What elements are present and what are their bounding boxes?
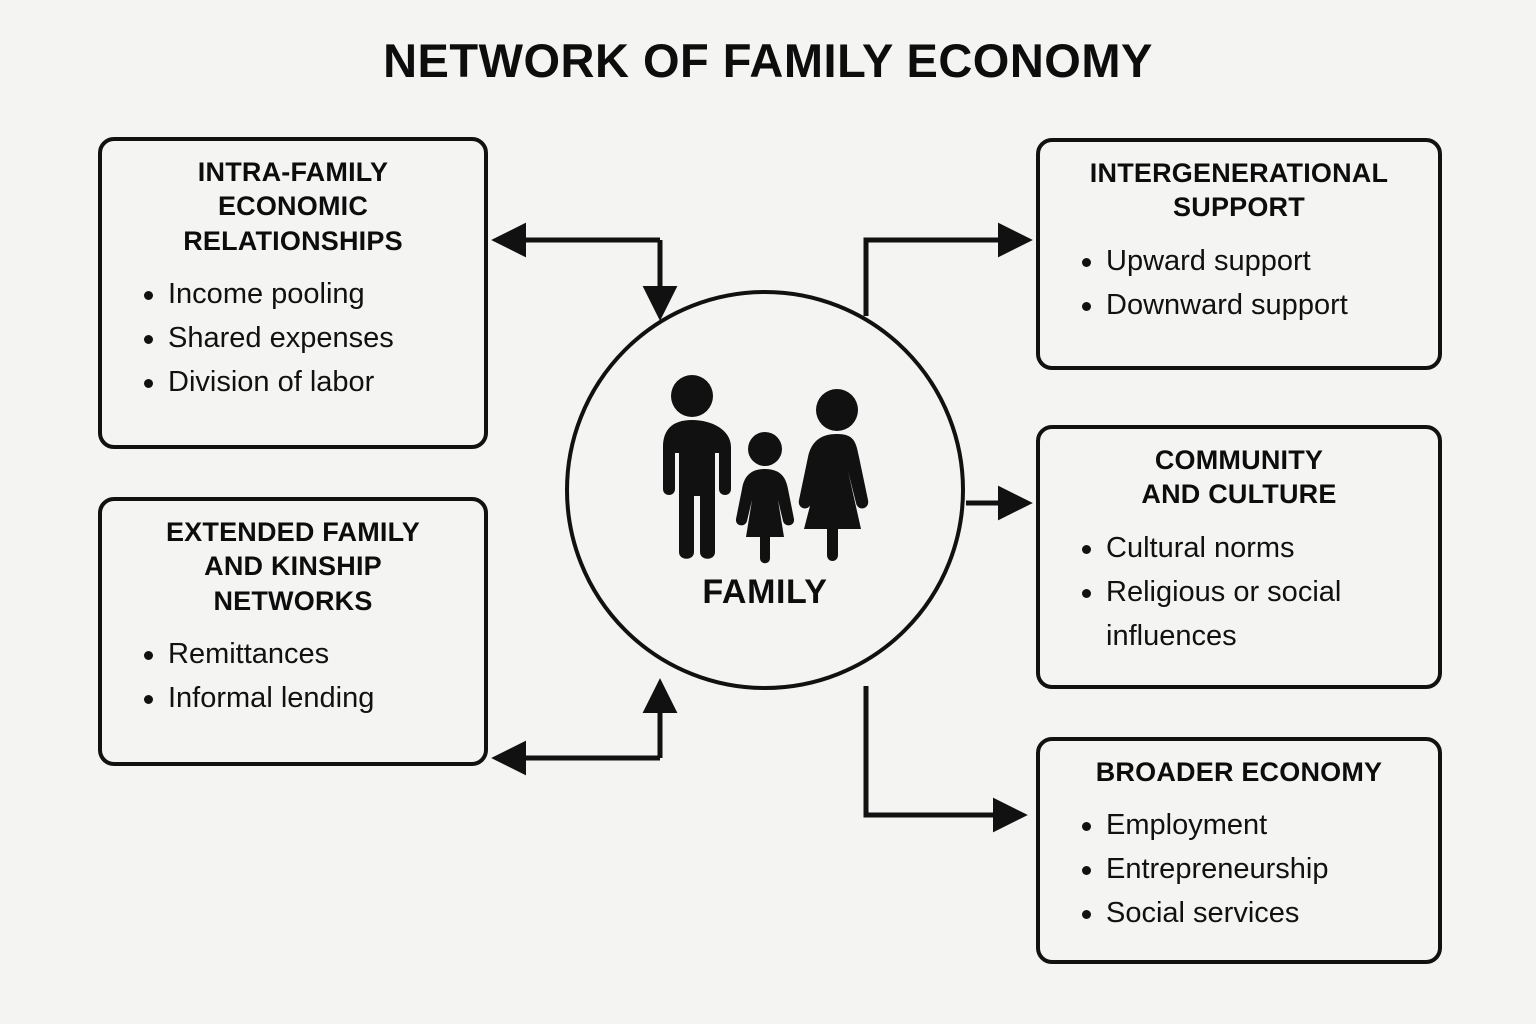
node-heading: BROADER ECONOMY [1058, 755, 1420, 789]
connector-hub-to-intra-family [497, 240, 660, 315]
node-bullet-list: Cultural norms Religious or social influ… [1058, 526, 1420, 658]
list-item: Entrepreneurship [1080, 847, 1420, 891]
node-extended-family-and-kinship-networks[interactable]: EXTENDED FAMILY AND KINSHIP NETWORKS Rem… [98, 497, 488, 766]
node-bullet-list: Employment Entrepreneurship Social servi… [1058, 803, 1420, 935]
node-heading: COMMUNITY AND CULTURE [1058, 443, 1420, 512]
node-intra-family-economic-relationships[interactable]: INTRA-FAMILY ECONOMIC RELATIONSHIPS Inco… [98, 137, 488, 449]
list-item: Remittances [142, 632, 466, 676]
diagram-canvas: NETWORK OF FAMILY ECONOMY [0, 0, 1536, 1024]
family-pictogram-icon [650, 369, 880, 569]
node-heading: INTERGENERATIONAL SUPPORT [1058, 156, 1420, 225]
connector-hub-to-broader-economy [866, 686, 1022, 815]
node-intergenerational-support[interactable]: INTERGENERATIONAL SUPPORT Upward support… [1036, 138, 1442, 370]
node-broader-economy[interactable]: BROADER ECONOMY Employment Entrepreneurs… [1036, 737, 1442, 964]
page-title: NETWORK OF FAMILY ECONOMY [0, 33, 1536, 88]
node-bullet-list: Remittances Informal lending [120, 632, 466, 720]
list-item: Employment [1080, 803, 1420, 847]
node-bullet-list: Income pooling Shared expenses Division … [120, 272, 466, 404]
connector-hub-to-extended-family [497, 684, 660, 758]
list-item: Division of labor [142, 360, 466, 404]
node-community-and-culture[interactable]: COMMUNITY AND CULTURE Cultural norms Rel… [1036, 425, 1442, 689]
center-node-label: FAMILY [702, 573, 827, 612]
list-item: Social services [1080, 891, 1420, 935]
list-item: Downward support [1080, 283, 1420, 327]
list-item: Cultural norms [1080, 526, 1420, 570]
connector-hub-to-intergenerational [866, 240, 1027, 316]
node-heading: INTRA-FAMILY ECONOMIC RELATIONSHIPS [120, 155, 466, 258]
list-item: Shared expenses [142, 316, 466, 360]
node-bullet-list: Upward support Downward support [1058, 239, 1420, 327]
list-item: Upward support [1080, 239, 1420, 283]
list-item: Informal lending [142, 676, 466, 720]
node-heading: EXTENDED FAMILY AND KINSHIP NETWORKS [120, 515, 466, 618]
list-item: Income pooling [142, 272, 466, 316]
list-item: Religious or social influences [1080, 570, 1420, 658]
center-node-family[interactable]: FAMILY [565, 290, 965, 690]
